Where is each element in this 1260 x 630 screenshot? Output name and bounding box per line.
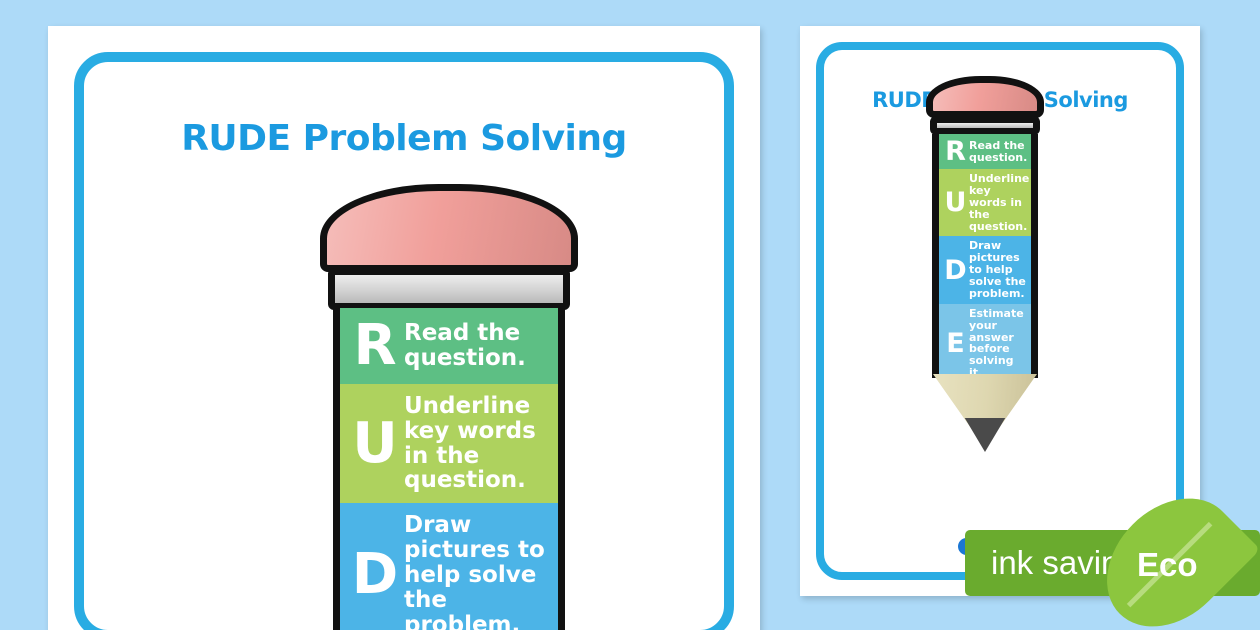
step-text-d: Draw pictures to help solve the problem.	[404, 513, 558, 630]
thumbnail-step-letter-d: D	[939, 257, 969, 284]
thumbnail-pencil-body: R Read the question. U Underline key wor…	[932, 134, 1038, 378]
thumbnail-step-text-u: Underline key words in the question.	[969, 173, 1031, 232]
thumbnail-pencil-ferrule	[930, 116, 1040, 135]
ink-saving-eco-badge[interactable]: ink saving Eco	[965, 530, 1260, 596]
step-text-r: Read the question.	[404, 321, 558, 371]
thumbnail-step-u: U Underline key words in the question.	[939, 169, 1031, 236]
thumbnail-poster-card[interactable]: RUDE Problem Solving R Read the question…	[800, 26, 1200, 596]
thumbnail-step-letter-r: R	[939, 138, 969, 165]
thumbnail-step-letter-u: U	[939, 189, 969, 216]
thumbnail-pencil-eraser	[926, 76, 1044, 118]
step-letter-r: R	[340, 318, 404, 374]
step-r: R Read the question.	[340, 308, 558, 384]
step-text-u: Underline key words in the question.	[404, 394, 558, 493]
pencil-body: R Read the question. U Underline key wor…	[333, 308, 565, 630]
step-d: D Draw pictures to help solve the proble…	[340, 503, 558, 630]
step-u: U Underline key words in the question.	[340, 384, 558, 503]
step-letter-d: D	[340, 547, 404, 603]
main-poster-card[interactable]: RUDE Problem Solving R Read the question…	[48, 26, 760, 630]
thumbnail-step-letter-e: E	[939, 330, 969, 357]
eco-label: Eco	[1137, 546, 1198, 584]
step-letter-u: U	[340, 416, 404, 472]
thumbnail-step-text-d: Draw pictures to help solve the problem.	[969, 240, 1031, 299]
page-title: RUDE Problem Solving	[48, 118, 760, 159]
pencil-ferrule	[328, 268, 570, 310]
thumbnail-step-r: R Read the question.	[939, 134, 1031, 169]
thumbnail-step-e: E Estimate your answer before solving it…	[939, 304, 1031, 378]
thumbnail-step-d: D Draw pictures to help solve the proble…	[939, 236, 1031, 303]
thumbnail-step-text-r: Read the question.	[969, 140, 1031, 164]
thumbnail-step-text-e: Estimate your answer before solving it.	[969, 308, 1031, 378]
